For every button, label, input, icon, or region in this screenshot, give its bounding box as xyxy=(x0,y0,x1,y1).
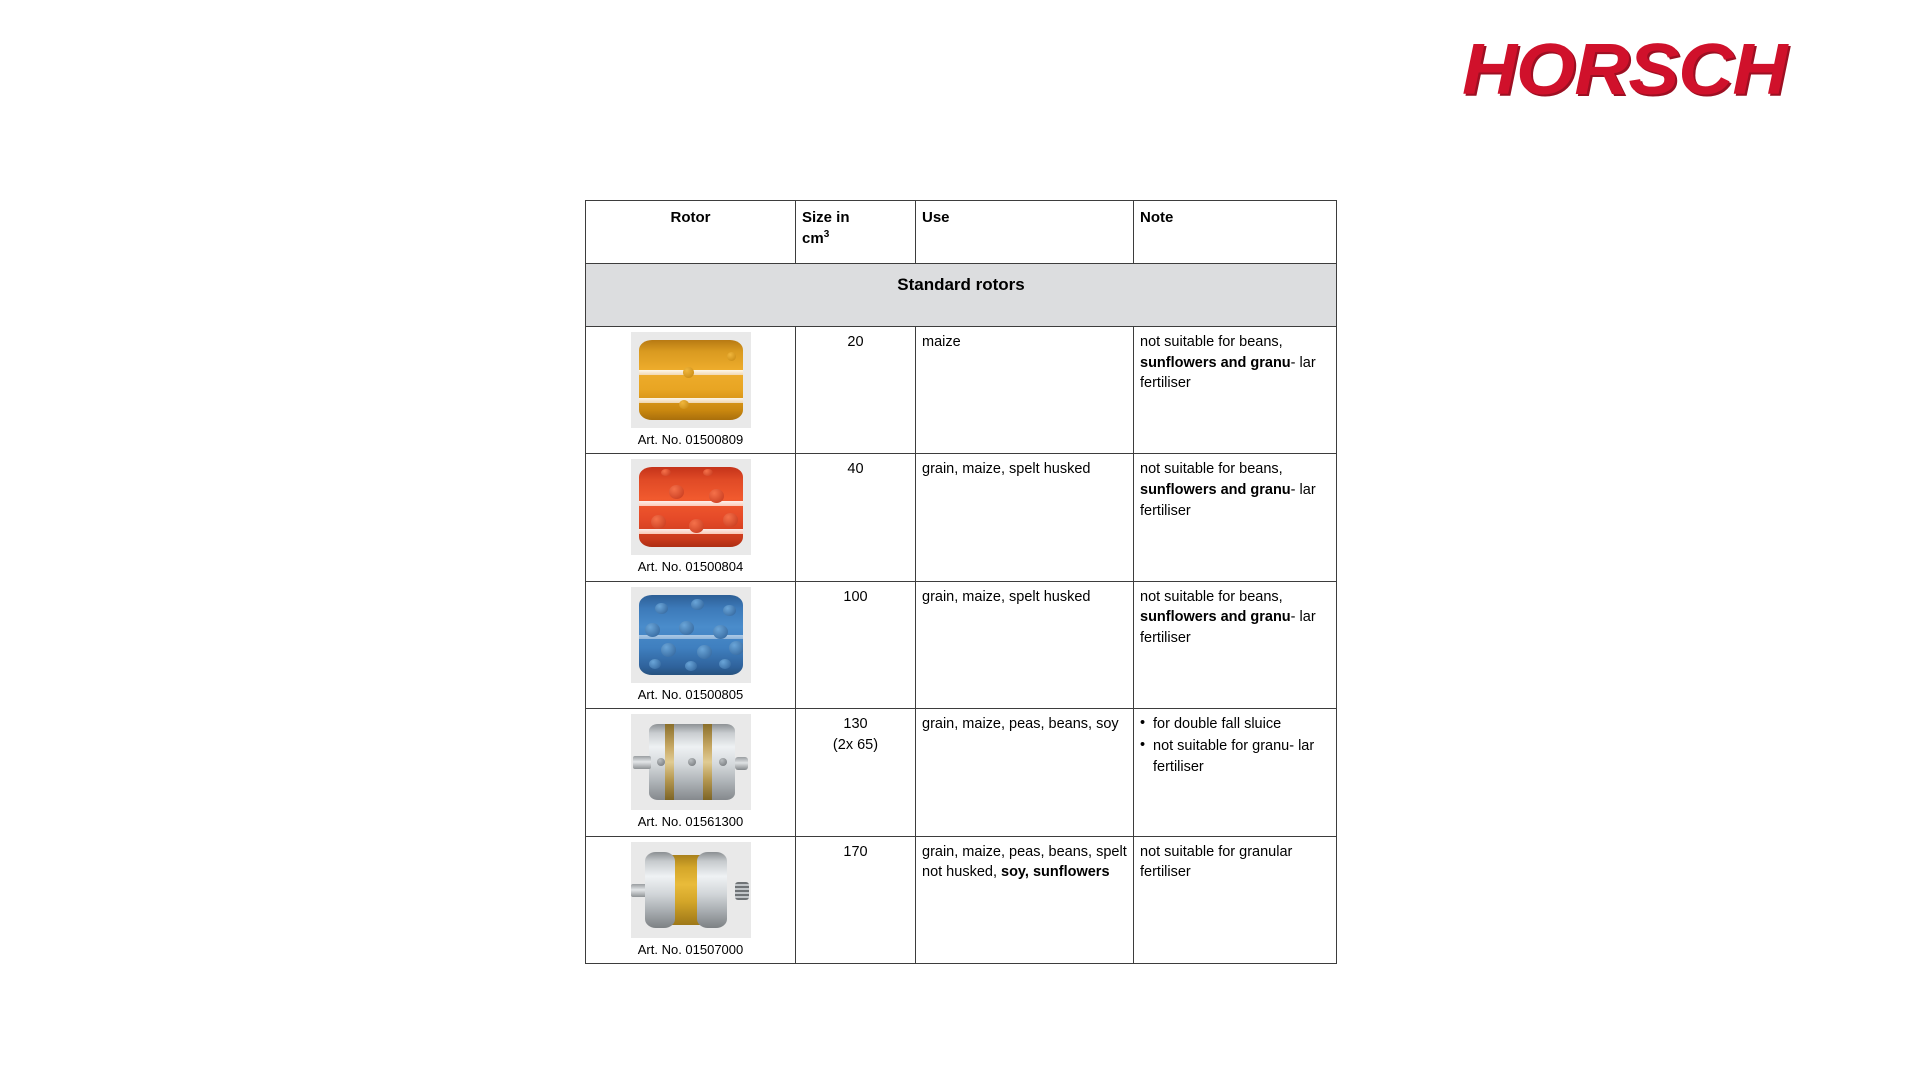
rotor-blue-100-image xyxy=(631,587,751,683)
art-no-label: Art. No. 01507000 xyxy=(592,941,789,959)
rotor-cell: Art. No. 01500804 xyxy=(586,454,796,581)
note-cell: not suitable for beans, sunflowers and g… xyxy=(1134,327,1337,454)
column-header-note: Note xyxy=(1134,201,1337,264)
use-cell: grain, maize, peas, beans, soy xyxy=(916,709,1134,836)
rotor-cell: Art. No. 01507000 xyxy=(586,836,796,963)
rotor-metal-130-image xyxy=(631,714,751,810)
table-row: Art. No. 01500809 20 maize not suitable … xyxy=(586,327,1337,454)
size-cell: 40 xyxy=(796,454,916,581)
table-row: Art. No. 01507000 170 grain, maize, peas… xyxy=(586,836,1337,963)
table-row: Art. No. 01561300 130 (2x 65) grain, mai… xyxy=(586,709,1337,836)
horsch-logo: HORSCH xyxy=(1462,28,1842,112)
column-header-size-line1: Size in xyxy=(802,209,850,226)
size-value-line2: (2x 65) xyxy=(833,737,878,753)
rotor-red-40-image xyxy=(631,459,751,555)
note-cell: not suitable for beans, sunflowers and g… xyxy=(1134,454,1337,581)
note-bullet-item: not suitable for granu- lar fertiliser xyxy=(1140,736,1330,777)
rotor-cell: Art. No. 01561300 xyxy=(586,709,796,836)
section-title-standard-rotors: Standard rotors xyxy=(586,264,1337,327)
rotor-cell: Art. No. 01500809 xyxy=(586,327,796,454)
column-header-use: Use xyxy=(916,201,1134,264)
size-cell: 130 (2x 65) xyxy=(796,709,916,836)
size-cell: 170 xyxy=(796,836,916,963)
rotor-cell: Art. No. 01500805 xyxy=(586,581,796,708)
horsch-logo-text: HORSCH xyxy=(1462,28,1865,112)
note-text-plain: not suitable for beans, xyxy=(1140,589,1283,605)
use-cell: grain, maize, spelt husked xyxy=(916,454,1134,581)
note-text-bold: sunflowers and granu xyxy=(1140,609,1291,625)
note-bullet-item: for double fall sluice xyxy=(1140,714,1330,735)
rotor-specification-table: Rotor Size in cm3 Use Note Standard roto… xyxy=(585,200,1337,964)
use-text-bold: soy, sunflowers xyxy=(1001,864,1110,880)
note-cell: not suitable for beans, sunflowers and g… xyxy=(1134,581,1337,708)
art-no-label: Art. No. 01561300 xyxy=(592,813,789,831)
use-cell: grain, maize, spelt husked xyxy=(916,581,1134,708)
column-header-size: Size in cm3 xyxy=(796,201,916,264)
art-no-label: Art. No. 01500809 xyxy=(592,431,789,449)
note-text-bold: sunflowers and granu xyxy=(1140,355,1291,371)
note-cell: not suitable for granular fertiliser xyxy=(1134,836,1337,963)
art-no-label: Art. No. 01500804 xyxy=(592,558,789,576)
use-cell: grain, maize, peas, beans, spelt not hus… xyxy=(916,836,1134,963)
art-no-label: Art. No. 01500805 xyxy=(592,686,789,704)
size-cell: 100 xyxy=(796,581,916,708)
note-text-plain: not suitable for beans, xyxy=(1140,334,1283,350)
size-value-line1: 130 xyxy=(843,716,867,732)
column-header-size-unit: cm xyxy=(802,230,824,247)
note-bullet-list: for double fall sluice not suitable for … xyxy=(1140,714,1330,777)
note-text-bold: sunflowers and granu xyxy=(1140,482,1291,498)
note-text-plain: not suitable for beans, xyxy=(1140,461,1283,477)
rotor-metal-gold-170-image xyxy=(631,842,751,938)
table-row: Art. No. 01500805 100 grain, maize, spel… xyxy=(586,581,1337,708)
table-row: Art. No. 01500804 40 grain, maize, spelt… xyxy=(586,454,1337,581)
rotor-amber-20-image xyxy=(631,332,751,428)
size-cell: 20 xyxy=(796,327,916,454)
column-header-size-exponent: 3 xyxy=(824,229,830,240)
table-header-row: Rotor Size in cm3 Use Note xyxy=(586,201,1337,264)
column-header-rotor: Rotor xyxy=(586,201,796,264)
note-cell: for double fall sluice not suitable for … xyxy=(1134,709,1337,836)
section-header-row: Standard rotors xyxy=(586,264,1337,327)
use-cell: maize xyxy=(916,327,1134,454)
